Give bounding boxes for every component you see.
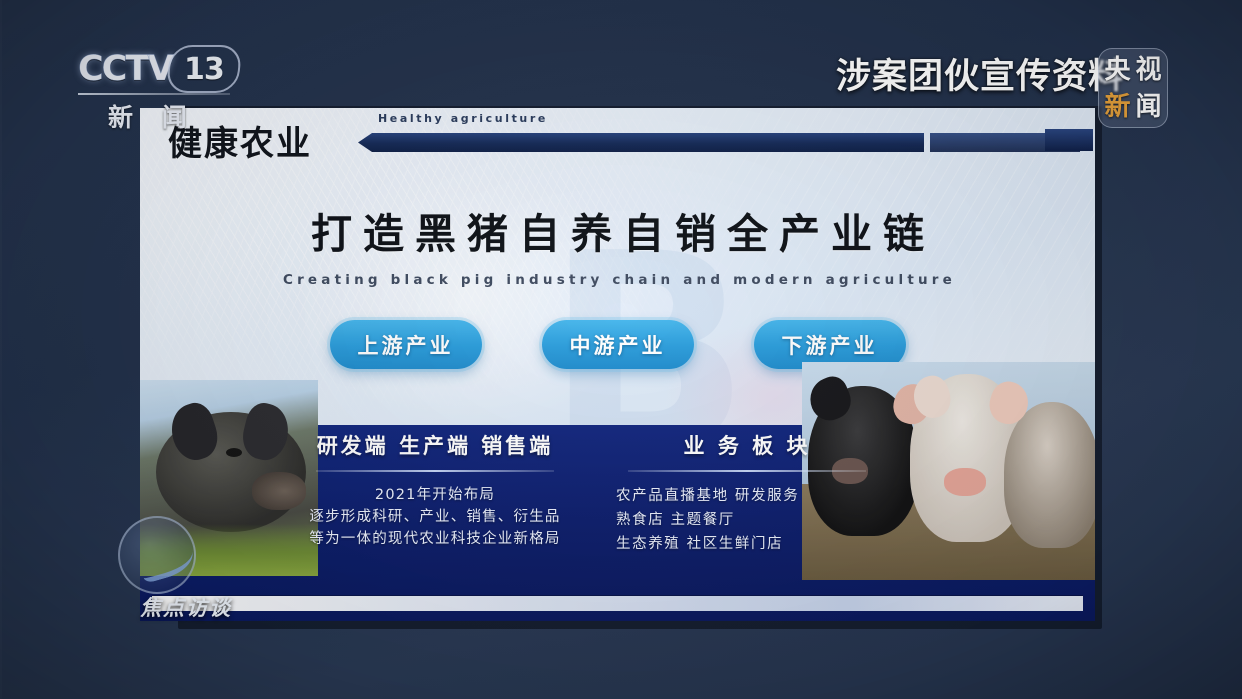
watermark-char-shi: 视 [1133, 52, 1164, 89]
piglet-white-snout [944, 468, 986, 496]
news-headline: 涉案团伙宣传资料 [836, 48, 1124, 99]
card-title: 研发端 生产端 销售端 [290, 430, 580, 460]
slide-eyebrow-english: Healthy agriculture [378, 112, 548, 125]
card-title: 业 务 板 块 [602, 430, 892, 460]
card-line: 生态养殖 社区生鲜门店 [616, 532, 892, 556]
card-line: 等为一体的现代农业科技企业新格局 [290, 528, 580, 550]
program-bug: 焦点访谈 [118, 516, 278, 612]
swoosh-stroke [137, 539, 197, 584]
left-arrow-bar-icon [358, 133, 924, 152]
cctv-channel-number-badge: 13 [166, 45, 243, 93]
pill-midstream-industry[interactable]: 中游产业 [542, 320, 694, 369]
pill-upstream-industry[interactable]: 上游产业 [330, 320, 482, 369]
pig-eye-shape [226, 448, 242, 457]
hero-subtitle-en: Creating black pig industry chain and mo… [140, 272, 1095, 288]
cctv-logo-underline [78, 93, 230, 95]
cctv-channel-number: 13 [184, 52, 224, 87]
card-divider [628, 470, 866, 472]
card-divider [316, 470, 554, 472]
cctv-news-watermark: 央 视 新 闻 [1098, 48, 1168, 128]
card-line: 农产品直播基地 研发服务 [616, 484, 892, 508]
piglet-spotted-shape [1004, 402, 1095, 548]
presentation-slide: B 健康农业 Healthy agriculture 打造黑猪自养自销全产业链 … [140, 108, 1095, 621]
cctv-logo-row: CCTV 13 [78, 46, 258, 92]
broadcast-screen: B 健康农业 Healthy agriculture 打造黑猪自养自销全产业链 … [0, 0, 1242, 699]
card-business-segments: 业 务 板 块 农产品直播基地 研发服务 熟食店 主题餐厅 生态养殖 社区生鲜门… [602, 430, 892, 602]
watermark-char-xin: 新 [1102, 89, 1133, 126]
slide-header: 健康农业 Healthy agriculture [140, 108, 1095, 170]
watermark-char-wen: 闻 [1133, 89, 1164, 126]
watermark-char-yang: 央 [1102, 52, 1133, 89]
card-body: 2021年开始布局 逐步形成科研、产业、销售、衍生品 等为一体的现代农业科技企业… [290, 484, 580, 550]
program-name: 焦点访谈 [140, 592, 232, 622]
cctv13-channel-logo: CCTV 13 新 闻 [78, 46, 258, 124]
card-rd-production-sales: 研发端 生产端 销售端 2021年开始布局 逐步形成科研、产业、销售、衍生品 等… [290, 430, 580, 602]
slide-hero: 打造黑猪自养自销全产业链 Creating black pig industry… [140, 200, 1095, 288]
arrow-bar-nub [1045, 129, 1093, 151]
cctv-channel-name-cn: 新 闻 [78, 98, 258, 134]
card-line: 逐步形成科研、产业、销售、衍生品 [290, 506, 580, 528]
card-line: 2021年开始布局 [290, 484, 580, 506]
card-line: 熟食店 主题餐厅 [616, 508, 892, 532]
cctv-wordmark: CCTV [78, 49, 172, 89]
card-body: 农产品直播基地 研发服务 熟食店 主题餐厅 生态养殖 社区生鲜门店 [602, 484, 892, 556]
swoosh-circle-icon [118, 516, 196, 594]
hero-title-cn: 打造黑猪自养自销全产业链 [140, 200, 1095, 260]
